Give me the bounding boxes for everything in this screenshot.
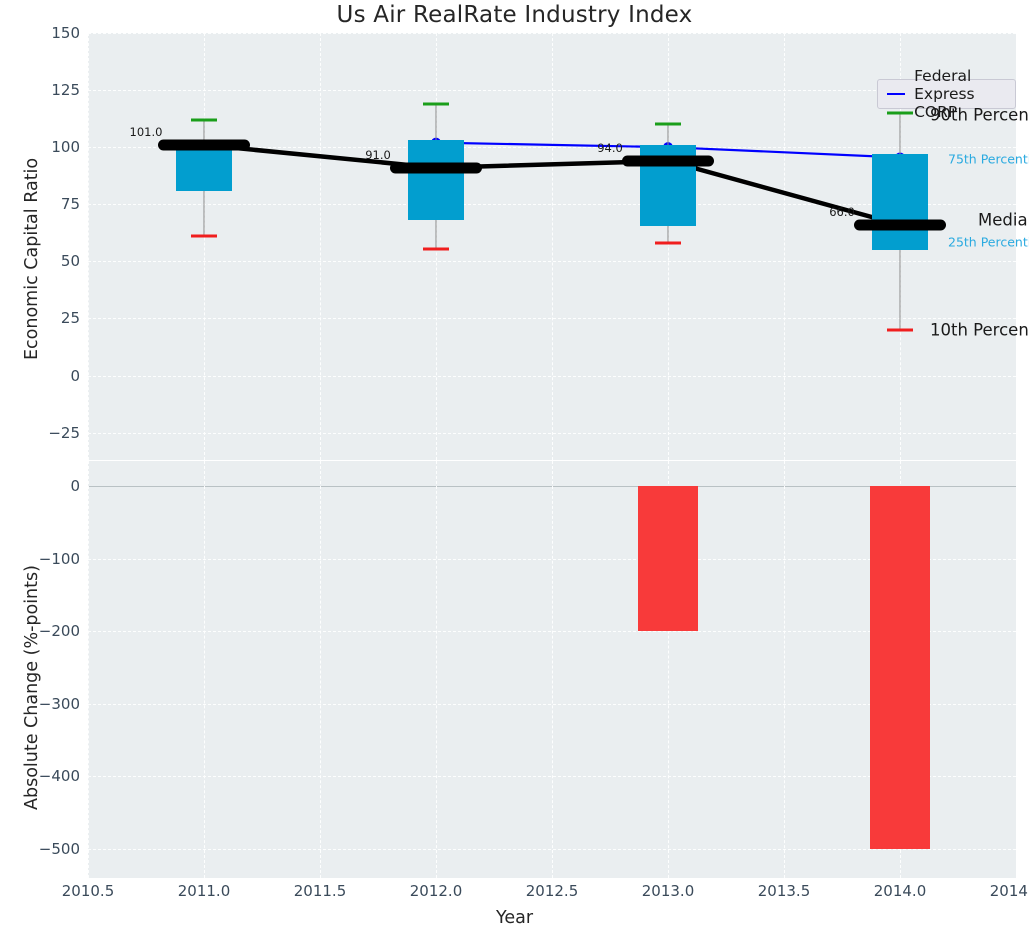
legend-swatch-federal-express xyxy=(887,93,905,95)
change-bar xyxy=(870,486,930,849)
y-axis-tick-label: 0 xyxy=(8,367,80,385)
y-axis-tick-label: −100 xyxy=(8,550,80,568)
median-value-label: 66.0 xyxy=(829,205,855,219)
cap-90th-percentile xyxy=(887,111,913,114)
median-value-label: 91.0 xyxy=(365,148,391,162)
gridline-vertical xyxy=(88,461,89,878)
y-axis-tick-label: 150 xyxy=(8,24,80,42)
x-axis-tick-label: 2014.5 xyxy=(990,882,1029,900)
gridline-horizontal xyxy=(88,318,1016,319)
gridline-vertical xyxy=(320,33,321,460)
y-axis-tick-label: −400 xyxy=(8,767,80,785)
panel-economic-capital-ratio: 101.091.094.066.0 Federal Express CORP 9… xyxy=(88,33,1016,460)
gridline-horizontal xyxy=(88,849,1016,850)
x-axis-tick-label: 2011.0 xyxy=(178,882,231,900)
x-axis-tick-label: 2014.0 xyxy=(874,882,927,900)
x-axis-tick-label: 2013.0 xyxy=(642,882,695,900)
y-axis-tick-label: −200 xyxy=(8,622,80,640)
legend[interactable]: Federal Express CORP xyxy=(877,79,1016,109)
gridline-vertical xyxy=(552,461,553,878)
y-axis-tick-label: −300 xyxy=(8,695,80,713)
median-bar xyxy=(622,155,714,166)
median-trend-line xyxy=(204,145,900,225)
panel-absolute-change xyxy=(88,461,1016,878)
cap-90th-percentile xyxy=(655,123,681,126)
gridline-vertical xyxy=(1016,461,1017,878)
y-axis-tick-label: 25 xyxy=(8,309,80,327)
gridline-horizontal xyxy=(88,33,1016,34)
cap-10th-percentile xyxy=(423,247,449,250)
x-axis-label: Year xyxy=(0,908,1029,928)
gridline-vertical xyxy=(436,461,437,878)
y-axis-tick-label: 0 xyxy=(8,477,80,495)
x-axis-tick-label: 2011.5 xyxy=(294,882,347,900)
y-axis-tick-label: 125 xyxy=(8,81,80,99)
box-iqr xyxy=(408,140,464,220)
annotation-75th-percentile: 75th Percentile xyxy=(948,151,1029,166)
y-axis-tick-label: 50 xyxy=(8,252,80,270)
annotation-median: Median xyxy=(978,211,1029,230)
gridline-vertical xyxy=(204,33,205,460)
gridline-vertical xyxy=(320,461,321,878)
cap-10th-percentile xyxy=(887,328,913,331)
x-axis-tick-label: 2012.0 xyxy=(410,882,463,900)
gridline-vertical xyxy=(552,33,553,460)
y-axis-tick-label: 100 xyxy=(8,138,80,156)
cap-10th-percentile xyxy=(191,235,217,238)
gridline-horizontal xyxy=(88,376,1016,377)
cap-90th-percentile xyxy=(423,102,449,105)
x-axis-tick-label: 2013.5 xyxy=(758,882,811,900)
x-axis-tick-label: 2012.5 xyxy=(526,882,579,900)
y-axis-tick-label: 75 xyxy=(8,195,80,213)
median-bar xyxy=(158,139,250,150)
gridline-vertical xyxy=(784,461,785,878)
annotation-25th-percentile: 25th Percentile xyxy=(948,234,1029,249)
annotation-10th-percentile: 10th Percentile xyxy=(930,320,1029,339)
median-value-label: 101.0 xyxy=(130,125,163,139)
median-bar xyxy=(390,162,482,173)
gridline-horizontal xyxy=(88,261,1016,262)
box-iqr xyxy=(872,154,928,250)
y-axis-tick-label: −500 xyxy=(8,840,80,858)
median-bar xyxy=(854,219,946,230)
gridline-vertical xyxy=(784,33,785,460)
cap-10th-percentile xyxy=(655,242,681,245)
gridline-vertical xyxy=(88,33,89,460)
x-axis-tick-label: 2010.5 xyxy=(62,882,115,900)
change-bar xyxy=(638,486,698,631)
gridline-vertical xyxy=(668,33,669,460)
annotation-90th-percentile: 90th Percentile xyxy=(930,106,1029,125)
gridline-horizontal xyxy=(88,433,1016,434)
median-value-label: 94.0 xyxy=(597,141,623,155)
cap-90th-percentile xyxy=(191,118,217,121)
chart-figure: Us Air RealRate Industry Index Economic … xyxy=(0,0,1029,942)
y-axis-tick-label: −25 xyxy=(8,424,80,442)
box-iqr xyxy=(176,145,232,191)
gridline-vertical xyxy=(204,461,205,878)
chart-title: Us Air RealRate Industry Index xyxy=(0,2,1029,28)
